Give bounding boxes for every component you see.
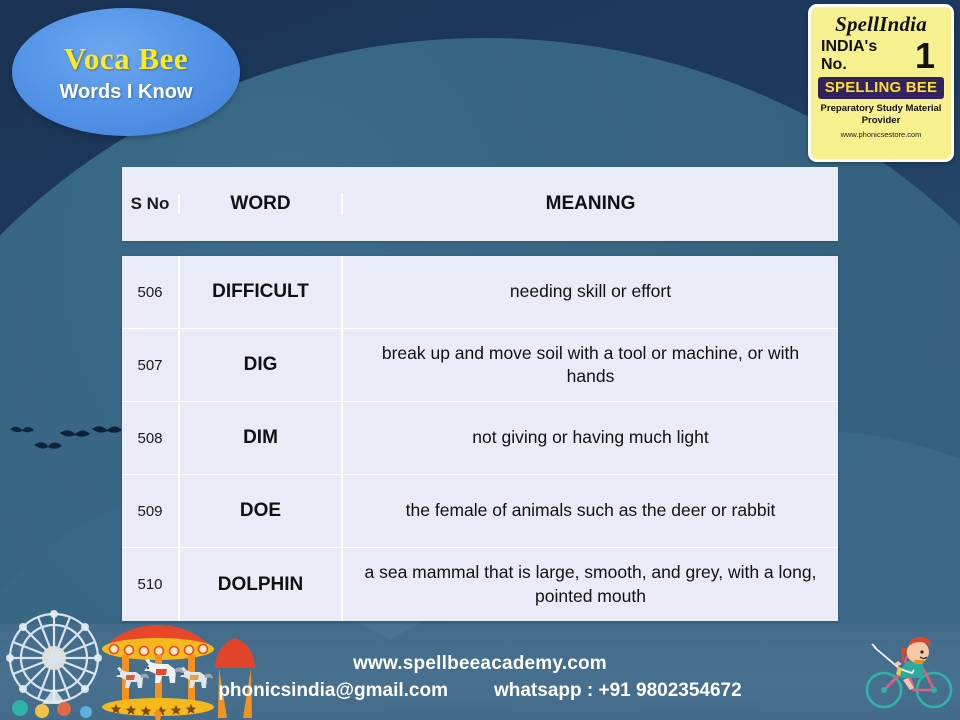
- logo-subtitle: Words I Know: [60, 81, 193, 104]
- cell-word: DIFFICULT: [180, 256, 343, 328]
- spelling-bee-bar: SPELLING BEE: [818, 77, 944, 99]
- cell-word: DIM: [180, 402, 343, 474]
- spellindia-provider-line1: Preparatory Study Material: [821, 103, 942, 115]
- cell-s-no: 509: [122, 475, 180, 547]
- cell-word: DIG: [180, 329, 343, 401]
- cell-s-no: 506: [122, 256, 180, 328]
- footer-whatsapp: whatsapp : +91 9802354672: [494, 680, 742, 702]
- table-header-row: S No WORD MEANING: [122, 167, 838, 241]
- footer-contact-line: phonicsindia@gmail.com whatsapp : +91 98…: [0, 680, 960, 702]
- cell-s-no: 508: [122, 402, 180, 474]
- spellindia-brand: SpellIndia: [835, 13, 927, 36]
- table-row: 510 DOLPHIN a sea mammal that is large, …: [122, 548, 838, 621]
- footer-email: phonicsindia@gmail.com: [218, 680, 448, 702]
- spellindia-rank-number: 1: [915, 39, 941, 73]
- header-meaning: MEANING: [343, 185, 838, 222]
- cell-meaning: the female of animals such as the deer o…: [343, 475, 838, 547]
- header-s-no: S No: [122, 194, 180, 214]
- spellindia-url: www.phonicsestore.com: [841, 130, 922, 139]
- flying-birds-icon: [8, 415, 128, 465]
- logo-title: Voca Bee: [64, 41, 188, 77]
- spellindia-provider: Preparatory Study Material Provider: [821, 103, 942, 127]
- table-row: 506 DIFFICULT needing skill or effort: [122, 256, 838, 329]
- spellindia-india-line2: No.: [821, 56, 915, 74]
- table-row: 509 DOE the female of animals such as th…: [122, 475, 838, 548]
- word-table: S No WORD MEANING 506 DIFFICULT needing …: [122, 167, 838, 621]
- footer-contact: www.spellbeeacademy.com phonicsindia@gma…: [0, 653, 960, 702]
- header-word: WORD: [180, 193, 343, 215]
- voca-bee-logo: Voca Bee Words I Know: [12, 8, 240, 136]
- spellindia-rank-row: INDIA's No. 1: [815, 36, 947, 74]
- footer-website: www.spellbeeacademy.com: [0, 653, 960, 675]
- cell-word: DOLPHIN: [180, 548, 343, 621]
- spellindia-india-line1: INDIA's: [821, 38, 915, 56]
- cell-word: DOE: [180, 475, 343, 547]
- cell-s-no: 507: [122, 329, 180, 401]
- cell-meaning: not giving or having much light: [343, 402, 838, 474]
- cell-meaning: needing skill or effort: [343, 256, 838, 328]
- table-row: 508 DIM not giving or having much light: [122, 402, 838, 475]
- table-row: 507 DIG break up and move soil with a to…: [122, 329, 838, 402]
- spellindia-badge: SpellIndia INDIA's No. 1 SPELLING BEE Pr…: [808, 4, 954, 162]
- slide-canvas: Voca Bee Words I Know SpellIndia INDIA's…: [0, 0, 960, 720]
- spellindia-provider-line2: Provider: [821, 115, 942, 127]
- cell-meaning: break up and move soil with a tool or ma…: [343, 329, 838, 401]
- cell-meaning: a sea mammal that is large, smooth, and …: [343, 548, 838, 621]
- table-body: 506 DIFFICULT needing skill or effort 50…: [122, 256, 838, 621]
- cell-s-no: 510: [122, 548, 180, 621]
- spellindia-india-text: INDIA's No.: [821, 38, 915, 74]
